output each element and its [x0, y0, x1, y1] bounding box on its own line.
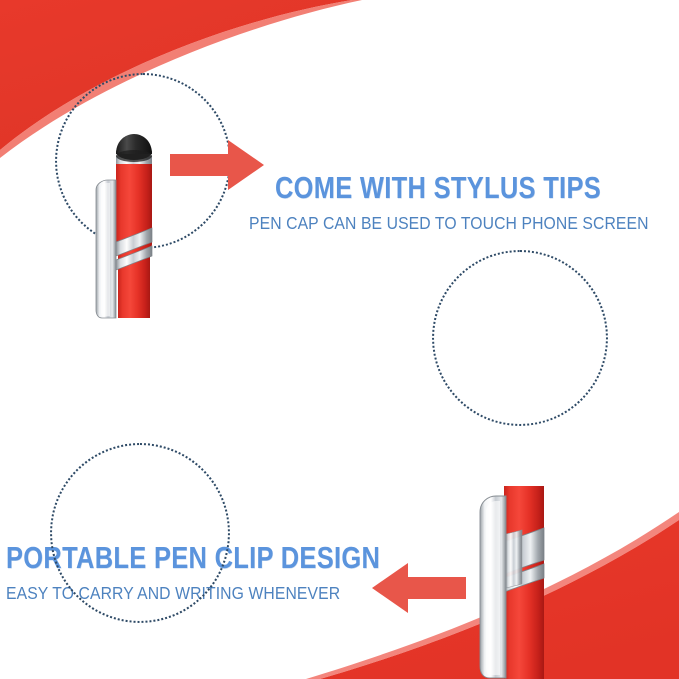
dotted-circle-ink	[50, 443, 230, 623]
feature-block-stylus: COME WITH STYLUS TIPS PEN CAP CAN BE USE…	[0, 60, 679, 270]
feature-block-clip: PORTABLE PEN CLIP DESIGN EASY TO CARRY A…	[0, 240, 679, 440]
subline-stylus: PEN CAP CAN BE USED TO TOUCH PHONE SCREE…	[249, 214, 627, 233]
headline-stylus: COME WITH STYLUS TIPS	[266, 172, 610, 205]
dotted-circle-clip	[432, 250, 608, 426]
product-feature-infographic: COME WITH STYLUS TIPS PEN CAP CAN BE USE…	[0, 0, 679, 679]
feature-block-ink: BLUE INK PENS SMOOTH WRITING, NOT EASY T…	[0, 430, 679, 640]
text-block-stylus: COME WITH STYLUS TIPS PEN CAP CAN BE USE…	[228, 172, 648, 233]
